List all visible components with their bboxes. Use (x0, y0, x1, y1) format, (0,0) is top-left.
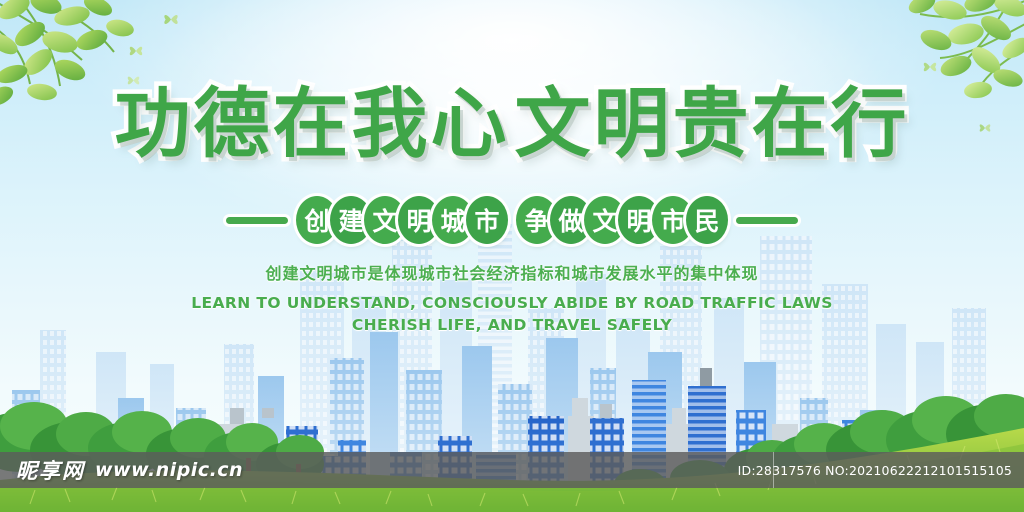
watermark-id-text: ID:28317576 NO:20210622212101515105 (738, 463, 1012, 478)
main-title-part1: 功德在我心 (114, 86, 509, 162)
watermark-separator (773, 452, 774, 488)
watermark-logo: 昵享网 (16, 455, 85, 485)
subtitle-dash-left (226, 217, 288, 224)
main-title-part2: 文明贵在行 (515, 86, 910, 162)
subtitle-char: 市 (466, 196, 508, 244)
poster-canvas: 功德在我心 文明贵在行 创 建 文 明 城 市 争 做 文 明 市 民 创建文明… (0, 0, 1024, 512)
subtitle-group-2: 争 做 文 明 市 民 (520, 196, 724, 244)
watermark-url[interactable]: www.nipic.cn (95, 459, 243, 481)
subtitle-char: 民 (686, 196, 728, 244)
description-english-line2: CHERISH LIFE, AND TRAVEL SAFELY (0, 316, 1024, 334)
description-chinese: 创建文明城市是体现城市社会经济指标和城市发展水平的集中体现 (0, 260, 1024, 284)
description-english-line1: LEARN TO UNDERSTAND, CONSCIOUSLY ABIDE B… (0, 294, 1024, 312)
subtitle-group-1: 创 建 文 明 城 市 (300, 196, 504, 244)
watermark-content: 昵享网 www.nipic.cn ID:28317576 NO:20210622… (0, 452, 1024, 488)
main-title: 功德在我心 文明贵在行 (0, 86, 1024, 162)
subtitle-banner: 创 建 文 明 城 市 争 做 文 明 市 民 (0, 196, 1024, 244)
subtitle-dash-right (736, 217, 798, 224)
